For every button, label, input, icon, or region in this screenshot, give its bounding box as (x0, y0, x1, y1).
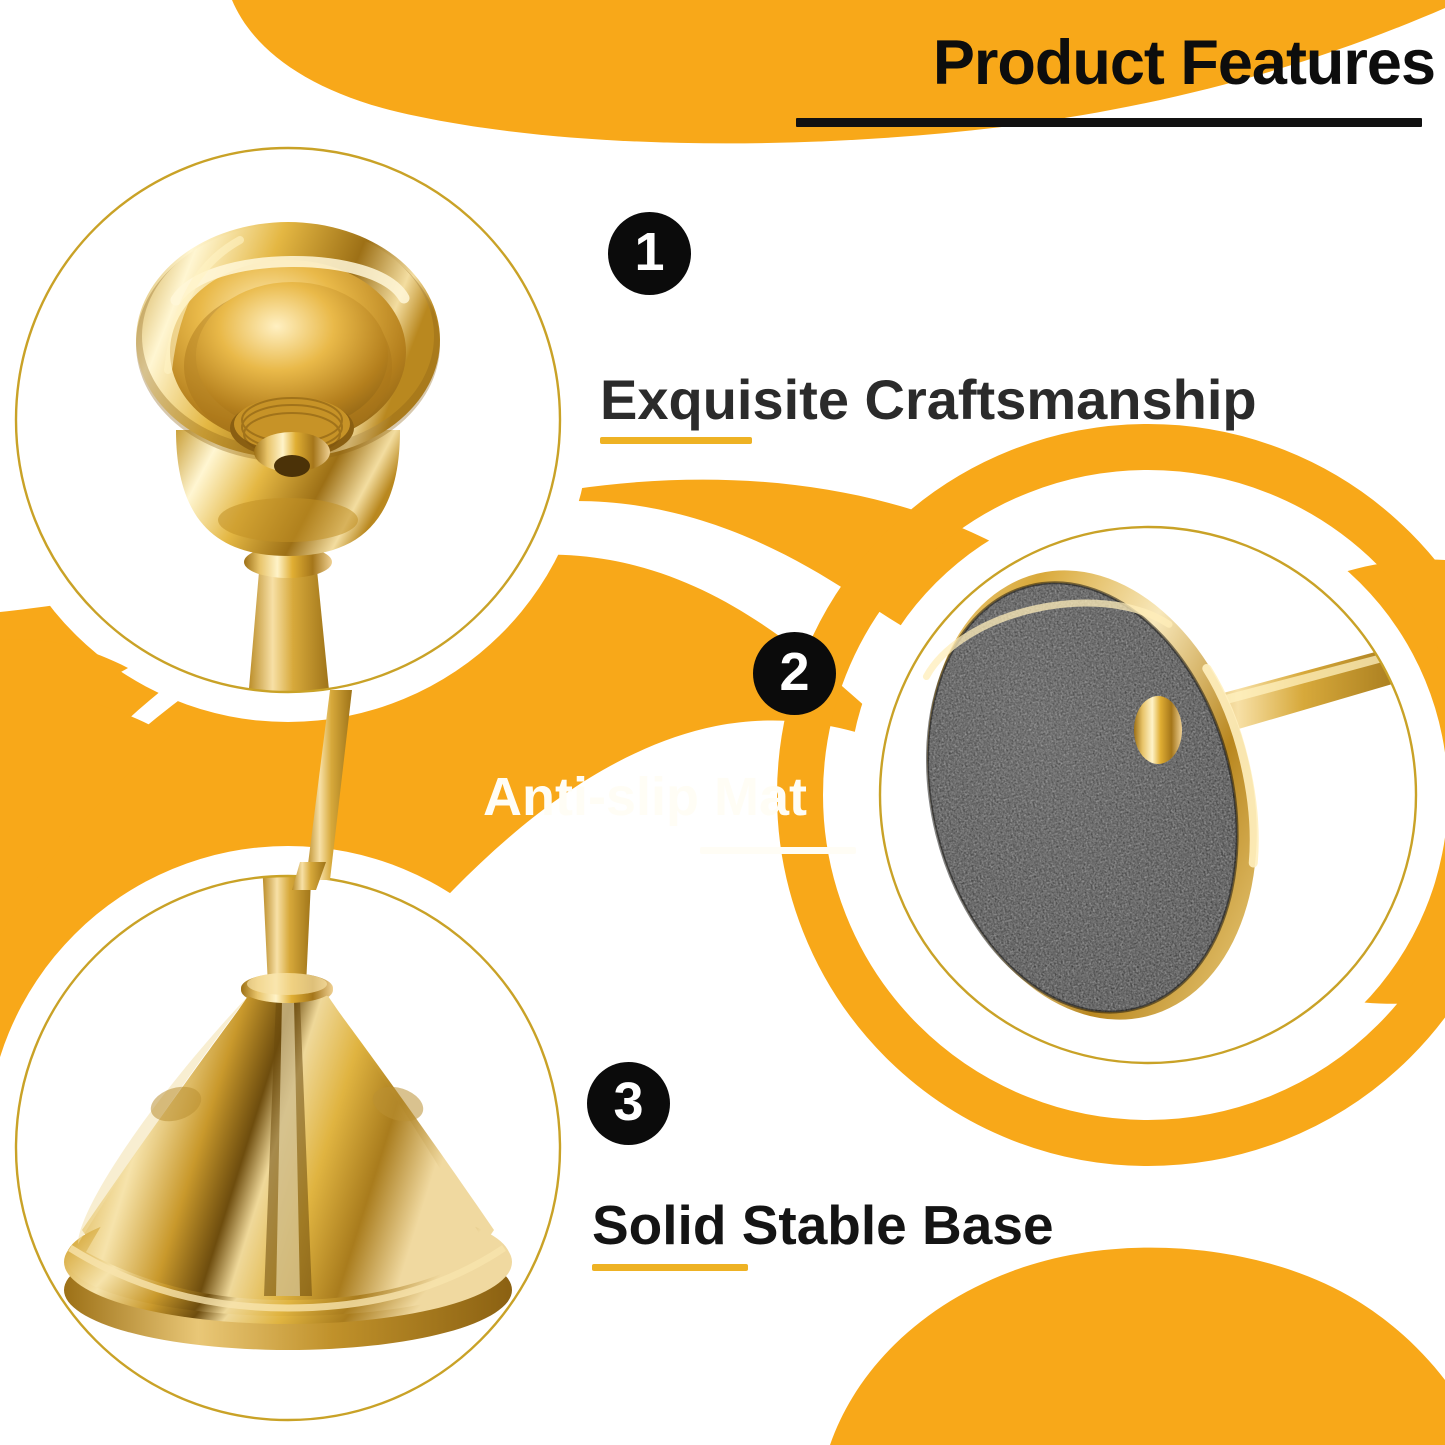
feature-underline-1 (600, 437, 752, 444)
feature-heading-2: Anti-slip Mat (483, 770, 807, 824)
page-title: Product Features (795, 32, 1435, 95)
feature-badge-2: 2 (753, 632, 836, 715)
feature-underline-2 (700, 847, 856, 854)
feature-underline-3 (592, 1264, 748, 1271)
product-features-infographic: Product Features 1 Exquisite Craftsmansh… (0, 0, 1445, 1445)
feature-heading-1: Exquisite Craftsmanship (600, 372, 1257, 428)
feature-heading-3: Solid Stable Base (592, 1198, 1054, 1253)
bottom-orange-blob (830, 1248, 1445, 1445)
title-underline (796, 118, 1422, 127)
feature-badge-3: 3 (587, 1062, 670, 1145)
feature-badge-1: 1 (608, 212, 691, 295)
